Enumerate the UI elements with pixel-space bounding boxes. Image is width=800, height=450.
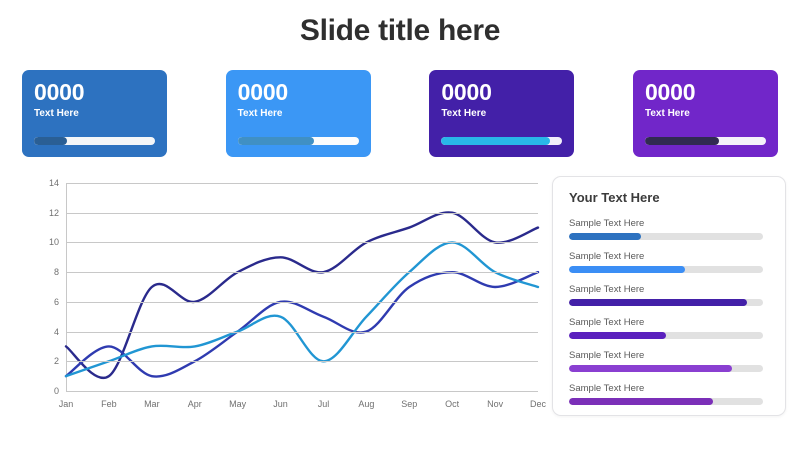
legend-progress-fill: [569, 233, 641, 240]
chart-x-tick-label: May: [229, 399, 246, 409]
chart-y-tick-label: 0: [54, 386, 59, 396]
legend-progress-fill: [569, 299, 747, 306]
legend-row-list: Sample Text HereSample Text HereSample T…: [569, 218, 769, 405]
chart-y-tick-label: 8: [54, 267, 59, 277]
kpi-value: 0000: [441, 79, 563, 105]
legend-row[interactable]: Sample Text Here: [569, 251, 769, 273]
chart-gridline: [66, 242, 538, 243]
legend-progress-track[interactable]: [569, 398, 763, 405]
kpi-value: 0000: [34, 79, 156, 105]
legend-progress-fill: [569, 266, 685, 273]
kpi-label: Text Here: [238, 108, 360, 120]
kpi-card[interactable]: 0000Text Here: [226, 70, 371, 157]
kpi-label: Text Here: [645, 108, 767, 120]
page-title: Slide title here: [0, 14, 800, 48]
legend-progress-track[interactable]: [569, 233, 763, 240]
kpi-progress-track[interactable]: [34, 137, 155, 145]
chart-x-tick-label: Aug: [358, 399, 374, 409]
chart-x-tick-label: Apr: [188, 399, 202, 409]
kpi-card[interactable]: 0000Text Here: [633, 70, 778, 157]
legend-row[interactable]: Sample Text Here: [569, 383, 769, 405]
chart-x-tick-label: Jul: [318, 399, 330, 409]
kpi-label: Text Here: [441, 108, 563, 120]
chart-x-tick-label: Feb: [101, 399, 117, 409]
legend-progress-track[interactable]: [569, 332, 763, 339]
chart-x-tick-label: Mar: [144, 399, 160, 409]
side-legend-panel: Your Text Here Sample Text HereSample Te…: [552, 176, 786, 416]
kpi-card[interactable]: 0000Text Here: [429, 70, 574, 157]
side-panel-title: Your Text Here: [569, 190, 769, 205]
chart-y-tick-label: 4: [54, 327, 59, 337]
chart-y-tick-label: 2: [54, 356, 59, 366]
chart-gridline: [66, 302, 538, 303]
legend-row-label: Sample Text Here: [569, 383, 769, 394]
legend-progress-fill: [569, 398, 713, 405]
legend-progress-track[interactable]: [569, 365, 763, 372]
chart-gridline: [66, 332, 538, 333]
chart-y-tick-label: 10: [49, 237, 59, 247]
legend-row[interactable]: Sample Text Here: [569, 284, 769, 306]
kpi-card-row: 0000Text Here0000Text Here0000Text Here0…: [22, 70, 778, 157]
kpi-card[interactable]: 0000Text Here: [22, 70, 167, 157]
chart-series-svg: [66, 183, 538, 391]
chart-x-tick-label: Oct: [445, 399, 459, 409]
legend-row[interactable]: Sample Text Here: [569, 317, 769, 339]
chart-x-tick-label: Jun: [273, 399, 288, 409]
kpi-progress-fill: [441, 137, 550, 145]
chart-x-tick-label: Nov: [487, 399, 503, 409]
legend-row-label: Sample Text Here: [569, 284, 769, 295]
legend-row-label: Sample Text Here: [569, 251, 769, 262]
chart-y-tick-label: 14: [49, 178, 59, 188]
kpi-progress-fill: [645, 137, 719, 145]
legend-row-label: Sample Text Here: [569, 350, 769, 361]
chart-x-tick-label: Dec: [530, 399, 546, 409]
chart-y-tick-label: 12: [49, 208, 59, 218]
kpi-progress-track[interactable]: [441, 137, 562, 145]
kpi-progress-track[interactable]: [238, 137, 359, 145]
chart-x-tick-label: Sep: [401, 399, 417, 409]
chart-gridline: [66, 361, 538, 362]
kpi-value: 0000: [645, 79, 767, 105]
chart-gridline: [66, 272, 538, 273]
legend-row[interactable]: Sample Text Here: [569, 350, 769, 372]
legend-row[interactable]: Sample Text Here: [569, 218, 769, 240]
chart-x-tick-label: Jan: [59, 399, 74, 409]
kpi-progress-fill: [34, 137, 67, 145]
legend-row-label: Sample Text Here: [569, 218, 769, 229]
legend-row-label: Sample Text Here: [569, 317, 769, 328]
chart-gridline: [66, 183, 538, 184]
legend-progress-track[interactable]: [569, 299, 763, 306]
kpi-progress-track[interactable]: [645, 137, 766, 145]
legend-progress-fill: [569, 332, 666, 339]
line-chart: 02468101214JanFebMarAprMayJunJulAugSepOc…: [20, 176, 540, 416]
chart-plot-area: 02468101214JanFebMarAprMayJunJulAugSepOc…: [66, 183, 538, 391]
legend-progress-track[interactable]: [569, 266, 763, 273]
chart-gridline: [66, 213, 538, 214]
kpi-progress-fill: [238, 137, 314, 145]
chart-series-line: [66, 212, 538, 378]
legend-progress-fill: [569, 365, 732, 372]
chart-gridline: [66, 391, 538, 392]
chart-series-line: [66, 242, 538, 376]
kpi-value: 0000: [238, 79, 360, 105]
chart-y-tick-label: 6: [54, 297, 59, 307]
kpi-label: Text Here: [34, 108, 156, 120]
